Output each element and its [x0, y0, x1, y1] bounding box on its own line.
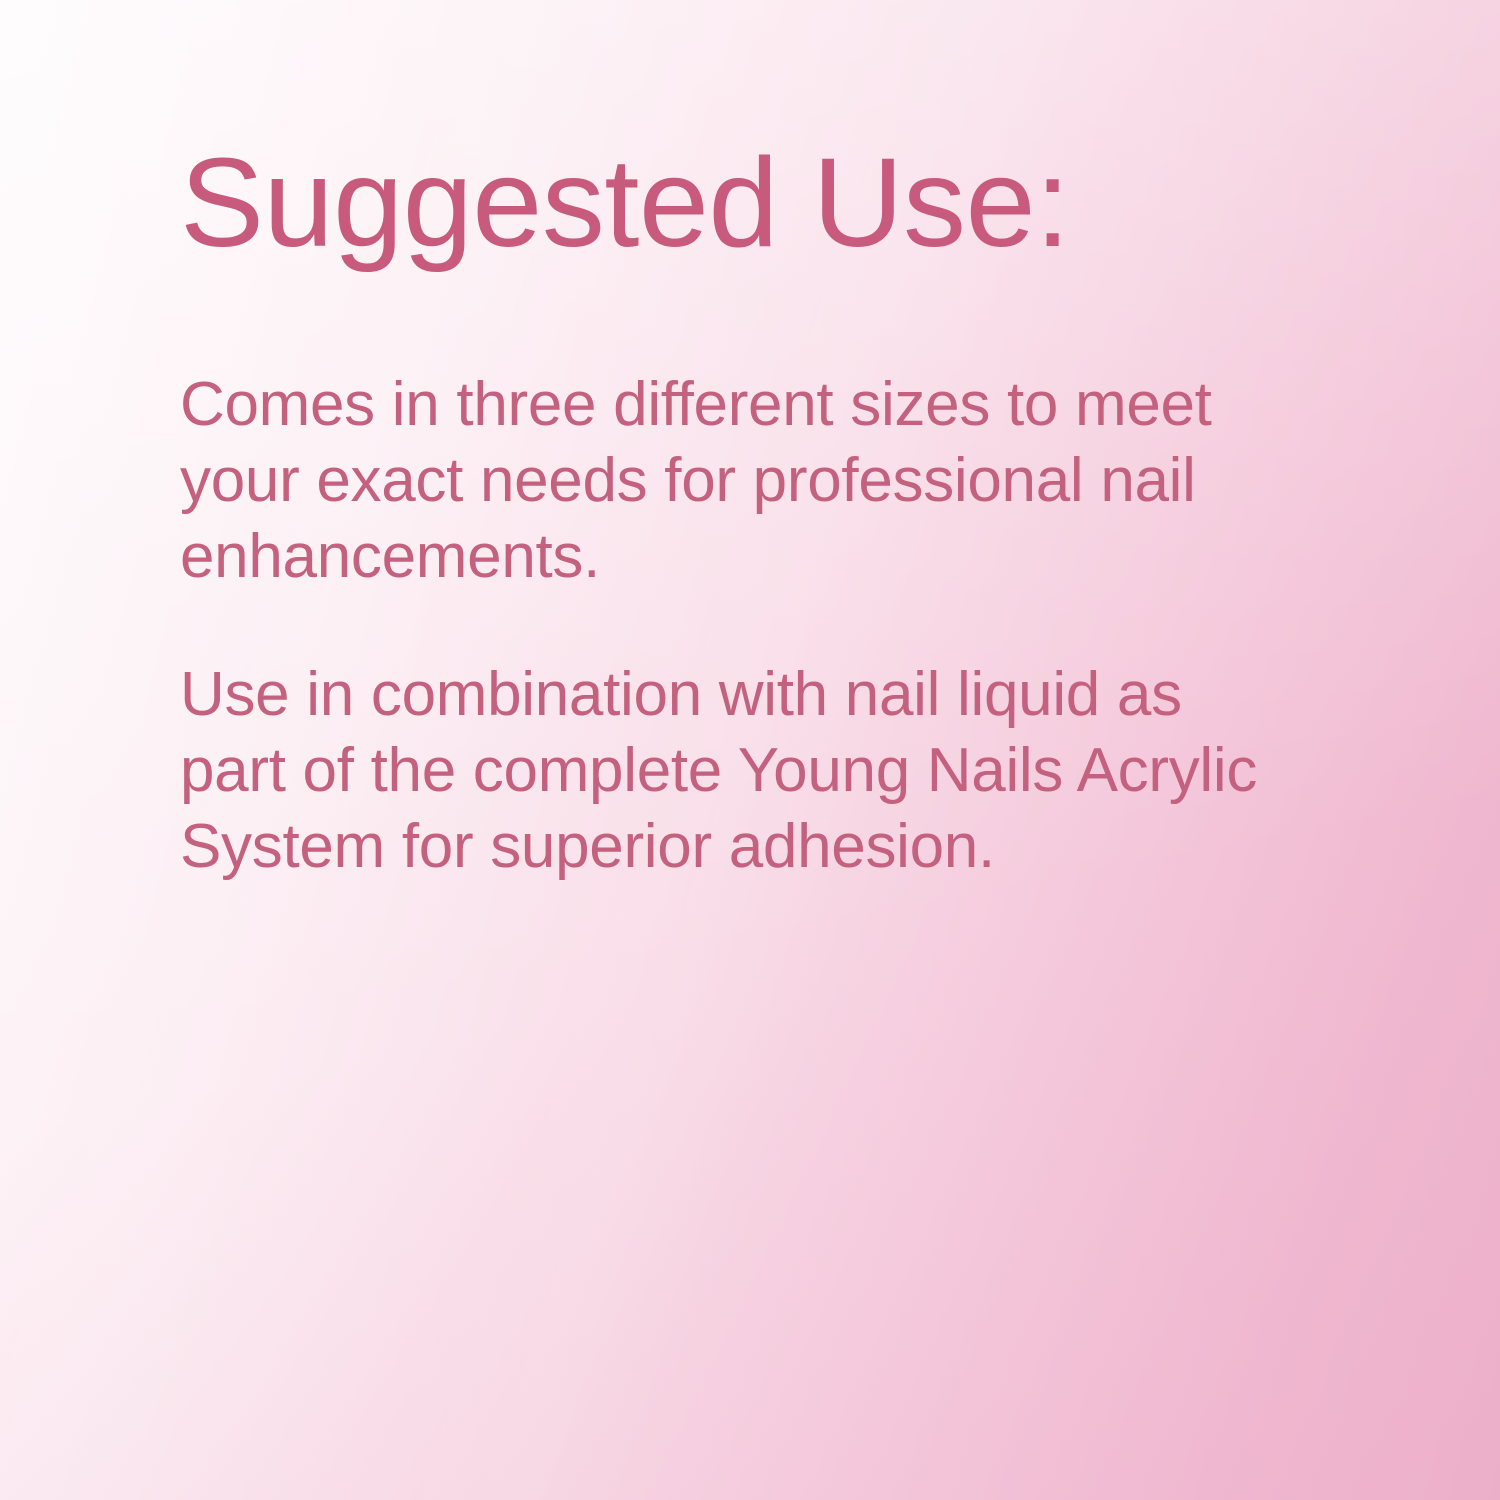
body-paragraph: Use in combination with nail liquid as p… [180, 657, 1270, 885]
suggested-use-panel: Suggested Use: Comes in three different … [0, 0, 1500, 1500]
body-paragraph: Comes in three different sizes to meet y… [180, 367, 1270, 595]
page-title: Suggested Use: [180, 140, 1070, 266]
